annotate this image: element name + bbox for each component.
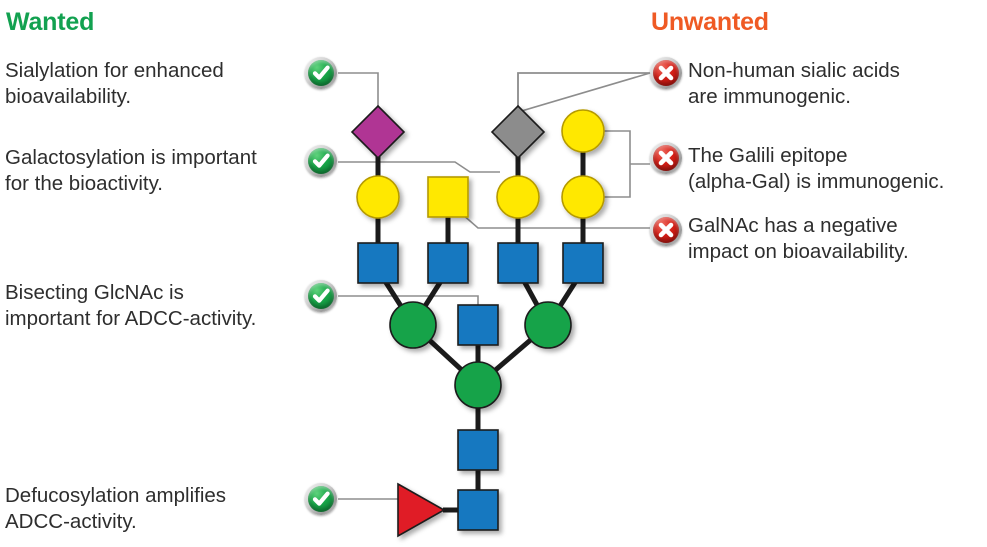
residue-glcnac-b3 <box>498 243 538 283</box>
residue-mannose-left <box>390 302 436 348</box>
residue-core-glcnac-2 <box>458 490 498 530</box>
residue-core-glcnac-1 <box>458 430 498 470</box>
glycan-structure <box>0 0 987 547</box>
residue-alpha-gal-circle <box>562 110 604 152</box>
residue-galactose-b3 <box>497 176 539 218</box>
residue-bisecting-glcnac <box>458 305 498 345</box>
residue-glcnac-b2 <box>428 243 468 283</box>
glycan-diagram-page: Wanted Unwanted Sialylation for enhanced… <box>0 0 987 547</box>
residue-galactose-b4 <box>562 176 604 218</box>
residue-glcnac-b1 <box>358 243 398 283</box>
residue-galnac-square <box>428 177 468 217</box>
residue-neu5gc-diamond <box>492 106 544 158</box>
residue-galactose-b1 <box>357 176 399 218</box>
residue-neu5ac-diamond <box>352 106 404 158</box>
residue-mannose-right <box>525 302 571 348</box>
residue-core-mannose <box>455 362 501 408</box>
residue-glcnac-b4 <box>563 243 603 283</box>
residue-fucose-triangle <box>398 484 444 536</box>
